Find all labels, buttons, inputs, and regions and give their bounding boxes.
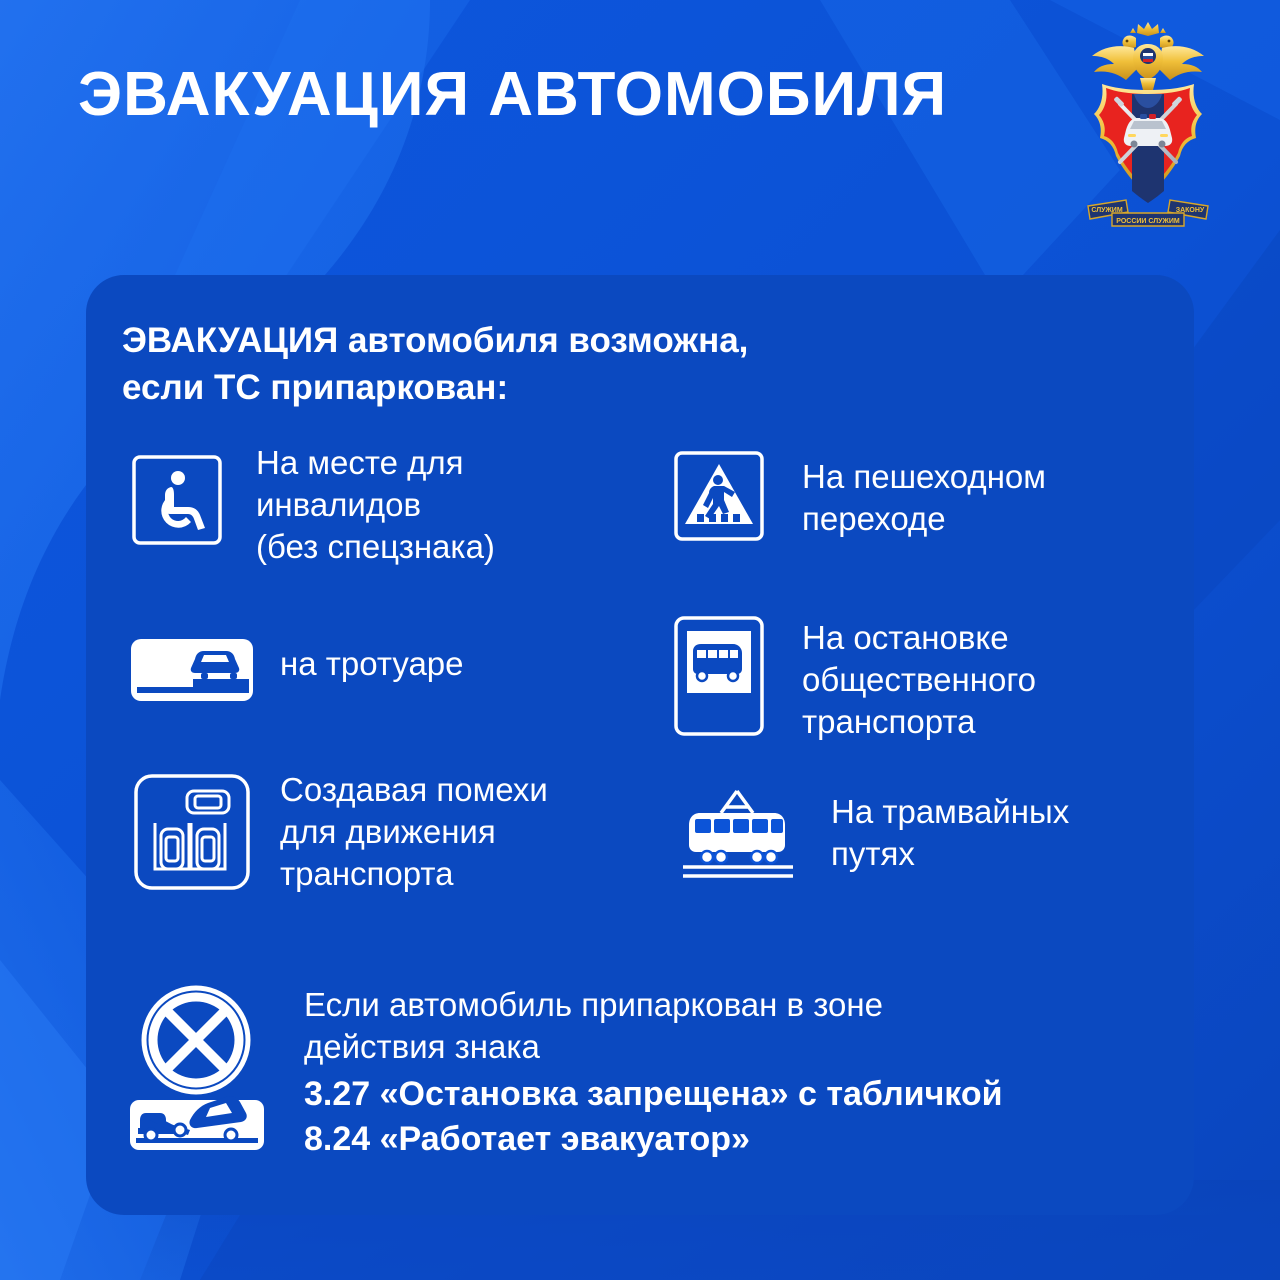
gibdd-emblem: СЛУЖИМ РОССИИ СЛУЖИМ ЗАКОНУ: [1064, 16, 1232, 232]
sidewalk-parking-sign-icon: [122, 637, 262, 703]
shield-figure: [1094, 84, 1202, 203]
card-heading: ЭВАКУАЦИЯ автомобиля возможна, если ТС п…: [122, 317, 748, 412]
bottom-note: Если автомобиль припаркован в зоне дейст…: [104, 980, 1003, 1161]
tow-truck-plate-icon: [130, 1096, 264, 1150]
emblem-ribbon: СЛУЖИМ РОССИИ СЛУЖИМ ЗАКОНУ: [1088, 200, 1208, 226]
list-item-label: на тротуаре: [280, 643, 464, 685]
content-card: ЭВАКУАЦИЯ автомобиля возможна, если ТС п…: [86, 275, 1194, 1215]
list-item-label: На остановке общественного транспорта: [802, 617, 1036, 744]
grid-row: На месте для инвалидов (без спецзнака): [104, 440, 1184, 615]
page-header: ЭВАКУАЦИЯ АВТОМОБИЛЯ: [0, 0, 1280, 270]
page-title: ЭВАКУАЦИЯ АВТОМОБИЛЯ: [78, 62, 947, 127]
list-item: На месте для инвалидов (без спецзнака): [104, 440, 664, 615]
list-item-label: На трамвайных путях: [831, 791, 1069, 875]
list-item: На пешеходном переходе: [664, 440, 1184, 615]
eagle-figure: [1092, 22, 1204, 90]
list-item: на тротуаре: [104, 615, 664, 765]
violation-grid: На месте для инвалидов (без спецзнака): [104, 440, 1184, 950]
no-stopping-sign-icon: [144, 988, 248, 1092]
ribbon-left-text: СЛУЖИМ: [1091, 207, 1123, 214]
list-item-label: На месте для инвалидов (без спецзнака): [256, 442, 495, 569]
list-item: Создавая помехи для движения транспорта: [104, 765, 664, 950]
disabled-parking-sign-icon: [122, 454, 232, 546]
bottom-icon-column: [104, 980, 294, 1155]
ribbon-right-text: ЗАКОНУ: [1176, 207, 1205, 214]
bus-stop-sign-icon: [664, 615, 774, 737]
pedestrian-crossing-sign-icon: [664, 450, 774, 542]
bottom-note-strong: 3.27 «Остановка запрещена» с табличкой 8…: [304, 1072, 1003, 1160]
grid-row: Создавая помехи для движения транспорта: [104, 765, 1184, 950]
list-item-label: Создавая помехи для движения транспорта: [280, 769, 548, 896]
tram-icon: [664, 785, 809, 881]
blocking-traffic-sign-icon: [122, 773, 262, 891]
bottom-note-text: Если автомобиль припаркован в зоне дейст…: [304, 984, 1003, 1161]
ribbon-center-text: РОССИИ СЛУЖИМ: [1116, 218, 1180, 225]
list-item-label: На пешеходном переходе: [802, 456, 1046, 540]
list-item: На остановке общественного транспорта: [664, 615, 1184, 765]
grid-row: на тротуаре: [104, 615, 1184, 765]
list-item: На трамвайных путях: [664, 765, 1184, 950]
bottom-note-regular: Если автомобиль припаркован в зоне дейст…: [304, 984, 1003, 1068]
